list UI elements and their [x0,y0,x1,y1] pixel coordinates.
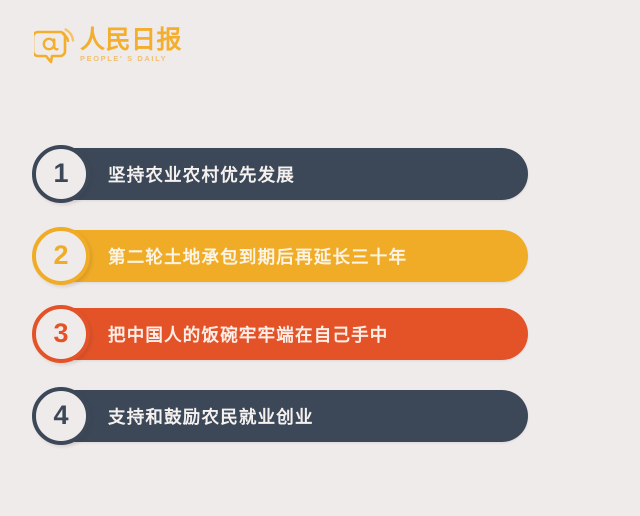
list-item-number-badge: 2 [32,227,90,285]
numbered-points-list: 坚持农业农村优先发展1第二轮土地承包到期后再延长三十年2把中国人的饭碗牢牢端在自… [0,0,640,516]
list-item-number: 4 [53,402,68,429]
list-item-label: 坚持农业农村优先发展 [108,148,295,200]
list-item-label: 把中国人的饭碗牢牢端在自己手中 [108,308,389,360]
list-item-number: 1 [53,160,68,187]
list-item-number: 2 [53,242,68,269]
list-item-number-badge: 1 [32,145,90,203]
list-item-number-badge: 4 [32,387,90,445]
list-item-number: 3 [53,320,68,347]
list-item-label: 支持和鼓励农民就业创业 [108,390,314,442]
list-item-number-badge: 3 [32,305,90,363]
list-item-label: 第二轮土地承包到期后再延长三十年 [108,230,407,282]
